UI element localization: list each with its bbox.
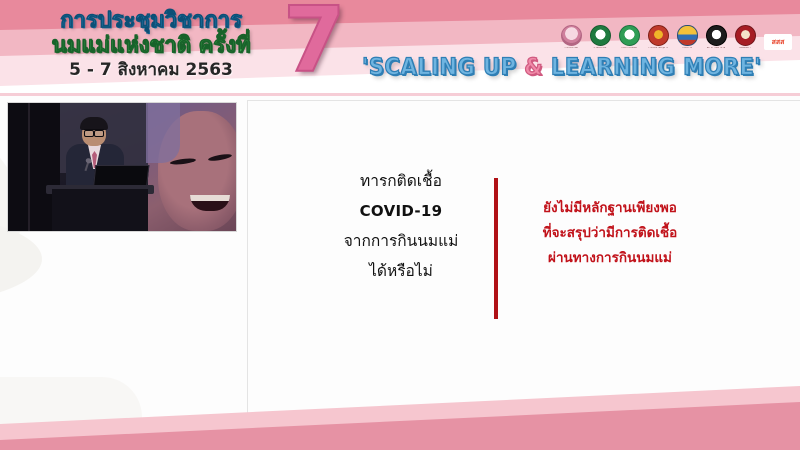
red-vertical-divider <box>494 178 498 319</box>
answer-line-1: ยังไม่มีหลักฐานเพียงพอ <box>505 196 715 221</box>
answer-line-2: ที่จะสรุปว่ามีการติดเชื้อ <box>505 221 715 246</box>
speaker-presentation-video[interactable] <box>8 103 236 231</box>
video-baby-blanket <box>146 103 180 163</box>
thai-pediatric-society-logo: ราชวิทยาลัยกุมาร <box>647 24 669 50</box>
conference-title: การประชุมวิชาการ นมแม่แห่งชาติ ครั้งที่ … <box>18 2 284 79</box>
conference-slogan: 'SCALING UP & LEARNING MORE' <box>362 56 792 79</box>
slide-answer-text: ยังไม่มีหลักฐานเพียงพอ ที่จะสรุปว่ามีการ… <box>505 196 715 271</box>
presentation-screen: 6 ทารกติดเชื้อ COVID-19 จากการกินนมแม่ ไ… <box>0 0 800 450</box>
ministry-public-health-logo: กรมอนามัย <box>589 24 611 50</box>
conference-date: 5 - 7 สิงหาคม 2563 <box>18 62 284 79</box>
department-health-logo: กรมการแพทย์ <box>618 24 640 50</box>
nursing-council-logo: สภาการพยาบาล <box>705 24 727 50</box>
question-line-4: ได้หรือไม่ <box>318 256 484 286</box>
slogan-part-2: LEARNING MORE' <box>543 54 761 80</box>
conference-title-line-2: นมแม่แห่งชาติ ครั้งที่ <box>18 32 284 57</box>
question-line-3: จากการกินนมแม่ <box>318 226 484 256</box>
conference-banner: การประชุมวิชาการ นมแม่แห่งชาติ ครั้งที่ … <box>0 0 800 96</box>
banner-bottom-line <box>0 93 800 96</box>
question-line-2: COVID-19 <box>318 196 484 226</box>
slogan-part-1: 'SCALING UP <box>362 54 524 80</box>
royal-emblem-logo: ราชวิทยาลัย <box>560 24 582 50</box>
thaihealth-sss-logo: สสส <box>763 24 793 50</box>
video-podium <box>52 189 148 231</box>
conference-title-line-1: การประชุมวิชาการ <box>18 2 284 32</box>
answer-line-3: ผ่านทางการกินนมแม่ <box>505 246 715 271</box>
sponsor-logos: ราชวิทยาลัย กรมอนามัย กรมการแพทย์ ราชวิท… <box>560 24 793 50</box>
medical-council-logo: แพทยสภา <box>734 24 756 50</box>
royal-thai-government-logo: กระทรวง <box>676 24 698 50</box>
slogan-ampersand: & <box>524 54 543 80</box>
eyeglasses-icon <box>84 129 104 135</box>
slide-question-text: ทารกติดเชื้อ COVID-19 จากการกินนมแม่ ได้… <box>318 166 484 286</box>
edition-number-7: 7 <box>283 0 346 86</box>
question-line-1: ทารกติดเชื้อ <box>318 166 484 196</box>
